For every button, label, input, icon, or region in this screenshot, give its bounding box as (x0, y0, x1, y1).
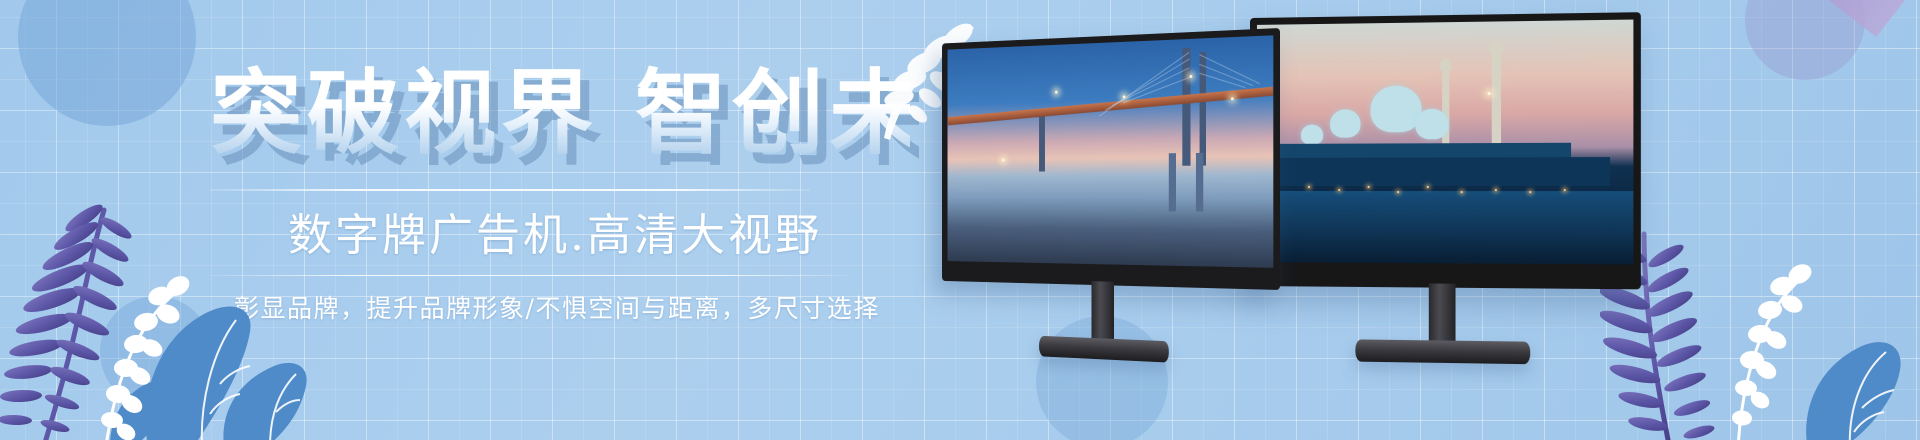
monitor-back-stand-base (1355, 339, 1530, 364)
subtitle: 数字牌广告机.高清大视野 (288, 199, 910, 263)
promo-banner: 突破视界 智创未来 数字牌广告机.高清大视野 彰显品牌，提升品牌形象/不惧空间与… (0, 0, 1920, 440)
monitor-front-stand-base (1039, 336, 1169, 363)
circle-bottom-left (100, 296, 212, 408)
subtitle-block: 数字牌广告机.高清大视野 彰显品牌，提升品牌形象/不惧空间与距离，多尺寸选择 (210, 189, 910, 325)
monitor-back-stand-neck (1429, 283, 1456, 342)
monitor-front-bezel: AOC (942, 28, 1280, 290)
bridge-scene-art (948, 35, 1274, 268)
product-group: AOC (880, 0, 1920, 440)
monitor-front-screen (948, 35, 1274, 268)
page-title: 突破视界 智创未来 (210, 64, 910, 163)
fern-leaf-left-icon (0, 200, 134, 440)
monitor-front-stand-neck (1092, 281, 1114, 341)
divider-top (210, 189, 810, 191)
tagline: 彰显品牌，提升品牌形象/不惧空间与距离，多尺寸选择 (234, 289, 910, 325)
divider-bottom (210, 275, 850, 276)
berry-branch-left-icon (100, 272, 193, 440)
monitor-back[interactable]: AOC (1250, 12, 1641, 364)
monitor-back-screen (1257, 20, 1633, 265)
mosque-scene-art (1257, 20, 1633, 265)
monitor-back-bezel: AOC (1250, 12, 1641, 289)
circle-top-left (18, 0, 196, 126)
monitor-front[interactable]: AOC (942, 28, 1280, 358)
copy-block: 突破视界 智创未来 数字牌广告机.高清大视野 彰显品牌，提升品牌形象/不惧空间与… (210, 64, 910, 325)
blue-leaf-left-icon (110, 306, 307, 440)
